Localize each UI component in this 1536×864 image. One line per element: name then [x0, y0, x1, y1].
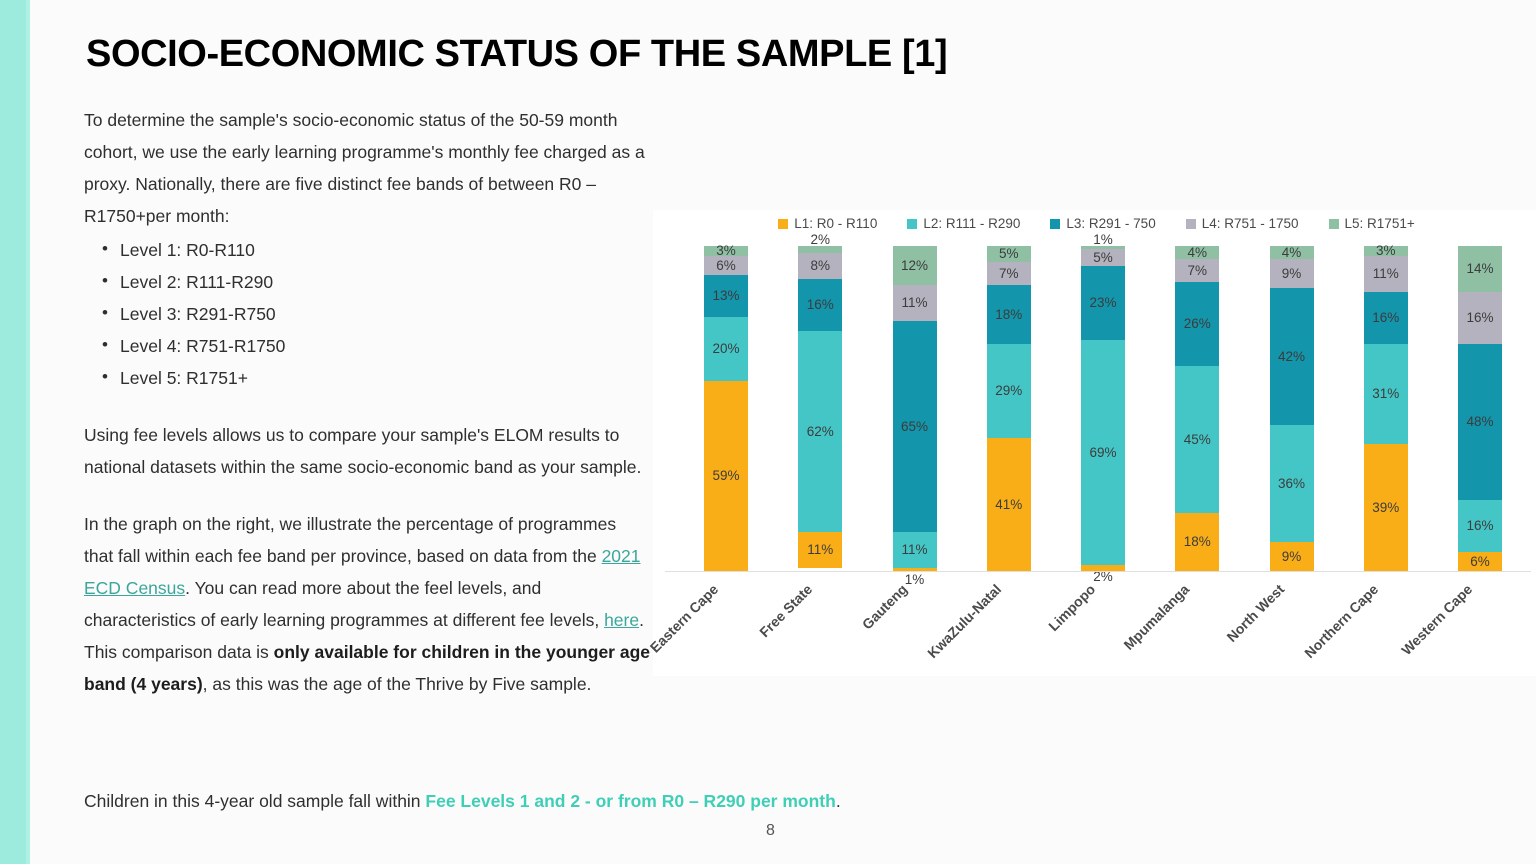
- paragraph-fee-levels: Using fee levels allows us to compare yo…: [84, 419, 650, 483]
- paragraph-graph-text-4: , as this was the age of the Thrive by F…: [203, 674, 592, 694]
- bar-segment-label: 41%: [995, 498, 1022, 512]
- bar-group: 5%7%18%29%41%: [966, 246, 1052, 571]
- bar-segment[interactable]: 5%: [987, 246, 1031, 262]
- paragraph-graph-description: In the graph on the right, we illustrate…: [84, 508, 650, 700]
- stacked-bar[interactable]: 12%11%65%11%1%: [893, 246, 937, 571]
- bar-segment[interactable]: 18%: [987, 285, 1031, 344]
- bar-group: 4%9%42%36%9%: [1249, 246, 1335, 571]
- bar-segment[interactable]: 69%: [1081, 340, 1125, 564]
- bar-group: 12%11%65%11%1%: [872, 246, 958, 571]
- bar-group: 2%8%16%62%11%: [777, 246, 863, 571]
- x-axis-label-slot: Western Cape: [1437, 575, 1523, 675]
- bar-segment-label: 11%: [901, 296, 927, 310]
- bar-segment[interactable]: 20%: [704, 317, 748, 381]
- bar-segment[interactable]: 62%: [798, 331, 842, 533]
- legend-swatch-icon: [1050, 219, 1060, 229]
- bar-segment-label: 65%: [901, 420, 928, 434]
- slide-surface: SOCIO-ECONOMIC STATUS OF THE SAMPLE [1] …: [30, 0, 1536, 864]
- final-statement-highlight: Fee Levels 1 and 2 - or from R0 – R290 p…: [425, 791, 835, 811]
- here-link[interactable]: here: [604, 610, 639, 630]
- bar-segment[interactable]: 13%: [704, 275, 748, 317]
- bar-group: 14%16%48%16%6%: [1437, 246, 1523, 571]
- list-item: Level 4: R751-R1750: [84, 330, 650, 362]
- bar-segment-label: 39%: [1372, 501, 1399, 515]
- stacked-bar[interactable]: 3%11%16%31%39%: [1364, 246, 1408, 571]
- legend-swatch-icon: [1329, 219, 1339, 229]
- bar-segment-label: 1%: [1093, 233, 1113, 247]
- legend-label: L3: R291 - 750: [1066, 216, 1155, 231]
- bar-segment-label: 18%: [995, 308, 1022, 322]
- x-axis-label-slot: Limpopo: [1060, 575, 1146, 675]
- list-item: Level 3: R291-R750: [84, 298, 650, 330]
- x-axis-label-slot: Gauteng: [872, 575, 958, 675]
- bar-segment[interactable]: 59%: [704, 381, 748, 571]
- bar-segment[interactable]: 23%: [1081, 266, 1125, 341]
- bar-segment-label: 2%: [810, 233, 830, 247]
- bar-segment-label: 48%: [1466, 415, 1493, 429]
- bar-segment[interactable]: 3%: [1364, 246, 1408, 256]
- final-statement-prefix: Children in this 4-year old sample fall …: [84, 791, 425, 811]
- bar-segment[interactable]: 16%: [1458, 500, 1502, 552]
- legend-item[interactable]: L4: R751 - 1750: [1186, 216, 1299, 231]
- bar-segment[interactable]: 42%: [1270, 288, 1314, 425]
- bar-segment[interactable]: 36%: [1270, 425, 1314, 542]
- bar-segment[interactable]: 12%: [893, 246, 937, 285]
- legend-item[interactable]: L3: R291 - 750: [1050, 216, 1155, 231]
- paragraph-graph-text-1: In the graph on the right, we illustrate…: [84, 514, 616, 566]
- bar-segment-label: 12%: [901, 259, 928, 273]
- stacked-bar[interactable]: 4%7%26%45%18%: [1175, 246, 1219, 571]
- bar-segment-label: 7%: [999, 267, 1019, 281]
- bar-segment-label: 42%: [1278, 350, 1305, 364]
- bar-segment-label: 13%: [712, 289, 739, 303]
- x-axis-label-slot: Northern Cape: [1343, 575, 1429, 675]
- bar-segment-label: 31%: [1372, 387, 1399, 401]
- x-axis-label-slot: Mpumalanga: [1154, 575, 1240, 675]
- bar-segment[interactable]: 9%: [1270, 259, 1314, 288]
- bar-segment-label: 11%: [1373, 267, 1399, 281]
- bar-segment-label: 20%: [712, 342, 739, 356]
- bar-segment-label: 5%: [999, 247, 1019, 261]
- x-axis-labels: Eastern CapeFree StateGautengKwaZulu-Nat…: [683, 575, 1523, 675]
- bar-segment[interactable]: 45%: [1175, 366, 1219, 512]
- bar-segment[interactable]: 11%: [893, 285, 937, 321]
- bar-segment[interactable]: 14%: [1458, 246, 1502, 292]
- legend-item[interactable]: L1: R0 - R110: [778, 216, 877, 231]
- bar-segment-label: 45%: [1184, 433, 1211, 447]
- paragraph-intro: To determine the sample's socio-economic…: [84, 104, 650, 232]
- x-axis-label-slot: Eastern Cape: [683, 575, 769, 675]
- bar-segment[interactable]: 16%: [1364, 292, 1408, 344]
- legend-swatch-icon: [907, 219, 917, 229]
- bar-segment[interactable]: 48%: [1458, 344, 1502, 500]
- bar-segment[interactable]: 7%: [987, 262, 1031, 285]
- bar-group: 3%6%13%20%59%: [683, 246, 769, 571]
- stacked-bar[interactable]: 4%9%42%36%9%: [1270, 246, 1314, 571]
- legend-label: L4: R751 - 1750: [1202, 216, 1299, 231]
- legend-swatch-icon: [1186, 219, 1196, 229]
- bar-segment[interactable]: 11%: [1364, 256, 1408, 292]
- list-item: Level 2: R111-R290: [84, 266, 650, 298]
- bar-segment[interactable]: 7%: [1175, 259, 1219, 282]
- bar-segment-label: 8%: [810, 259, 830, 273]
- bar-segment[interactable]: 16%: [1458, 292, 1502, 344]
- bar-segment[interactable]: 5%: [1081, 249, 1125, 265]
- bar-segment-label: 23%: [1089, 296, 1116, 310]
- stacked-bar[interactable]: 1%5%23%69%2%: [1081, 246, 1125, 571]
- chart-plot-area: 3%6%13%20%59%2%8%16%62%11%12%11%65%11%1%…: [683, 246, 1523, 571]
- bar-segment-label: 69%: [1089, 446, 1116, 460]
- legend-item[interactable]: L5: R1751+: [1329, 216, 1415, 231]
- x-axis-label-slot: North West: [1249, 575, 1335, 675]
- bar-segment[interactable]: 4%: [1270, 246, 1314, 259]
- bar-segment[interactable]: 29%: [987, 344, 1031, 438]
- legend-item[interactable]: L2: R111 - R290: [907, 216, 1020, 231]
- stacked-bar[interactable]: 5%7%18%29%41%: [987, 246, 1031, 571]
- bar-segment-label: 6%: [716, 259, 736, 273]
- page-title: SOCIO-ECONOMIC STATUS OF THE SAMPLE [1]: [86, 33, 947, 76]
- bar-segment[interactable]: 8%: [798, 253, 842, 279]
- x-axis-label-slot: KwaZulu-Natal: [966, 575, 1052, 675]
- stacked-bar[interactable]: 3%6%13%20%59%: [704, 246, 748, 571]
- list-item: Level 5: R1751+: [84, 362, 650, 394]
- bar-group: 4%7%26%45%18%: [1154, 246, 1240, 571]
- bar-segment-label: 18%: [1184, 535, 1211, 549]
- bar-segment-label: 16%: [1372, 311, 1399, 325]
- stacked-bar[interactable]: 2%8%16%62%11%: [798, 246, 842, 571]
- bar-segment-label: 7%: [1187, 264, 1207, 278]
- left-accent-strip: [0, 0, 30, 864]
- bar-group: 1%5%23%69%2%: [1060, 246, 1146, 571]
- left-text-column: To determine the sample's socio-economic…: [84, 104, 650, 700]
- legend-swatch-icon: [778, 219, 788, 229]
- bar-segment-label: 59%: [712, 469, 739, 483]
- bar-segment-label: 4%: [1282, 246, 1302, 260]
- stacked-bar[interactable]: 14%16%48%16%6%: [1458, 246, 1502, 571]
- final-statement: Children in this 4-year old sample fall …: [84, 786, 841, 816]
- page-number: 8: [766, 822, 775, 840]
- bar-segment-label: 62%: [807, 425, 834, 439]
- chart-legend: L1: R0 - R110L2: R111 - R290L3: R291 - 7…: [653, 216, 1536, 231]
- legend-label: L1: R0 - R110: [794, 216, 877, 231]
- final-statement-suffix: .: [836, 791, 841, 811]
- bar-segment[interactable]: 4%: [1175, 246, 1219, 259]
- bar-segment[interactable]: 16%: [798, 279, 842, 331]
- bar-segment-label: 14%: [1466, 262, 1493, 276]
- bar-segment-label: 4%: [1187, 246, 1207, 260]
- bar-segment[interactable]: 3%: [704, 246, 748, 256]
- bar-segment-label: 26%: [1184, 317, 1211, 331]
- bar-group: 3%11%16%31%39%: [1343, 246, 1429, 571]
- bar-segment-label: 5%: [1093, 251, 1113, 265]
- bar-segment-label: 16%: [807, 298, 834, 312]
- stacked-bar-chart-panel: L1: R0 - R110L2: R111 - R290L3: R291 - 7…: [653, 210, 1536, 676]
- bar-segment-label: 16%: [1466, 519, 1493, 533]
- x-axis-label-slot: Free State: [777, 575, 863, 675]
- legend-label: L2: R111 - R290: [923, 216, 1020, 231]
- bar-segment[interactable]: 31%: [1364, 344, 1408, 445]
- bar-segment[interactable]: 26%: [1175, 282, 1219, 367]
- bar-segment-label: 9%: [1282, 267, 1302, 281]
- bar-segment[interactable]: 6%: [704, 256, 748, 275]
- fee-level-list: Level 1: R0-R110 Level 2: R111-R290 Leve…: [84, 234, 650, 394]
- bar-segment[interactable]: 65%: [893, 321, 937, 532]
- bar-segment-label: 29%: [995, 384, 1022, 398]
- bar-segment-label: 36%: [1278, 477, 1305, 491]
- list-item: Level 1: R0-R110: [84, 234, 650, 266]
- legend-label: L5: R1751+: [1345, 216, 1415, 231]
- bar-segment-label: 16%: [1466, 311, 1493, 325]
